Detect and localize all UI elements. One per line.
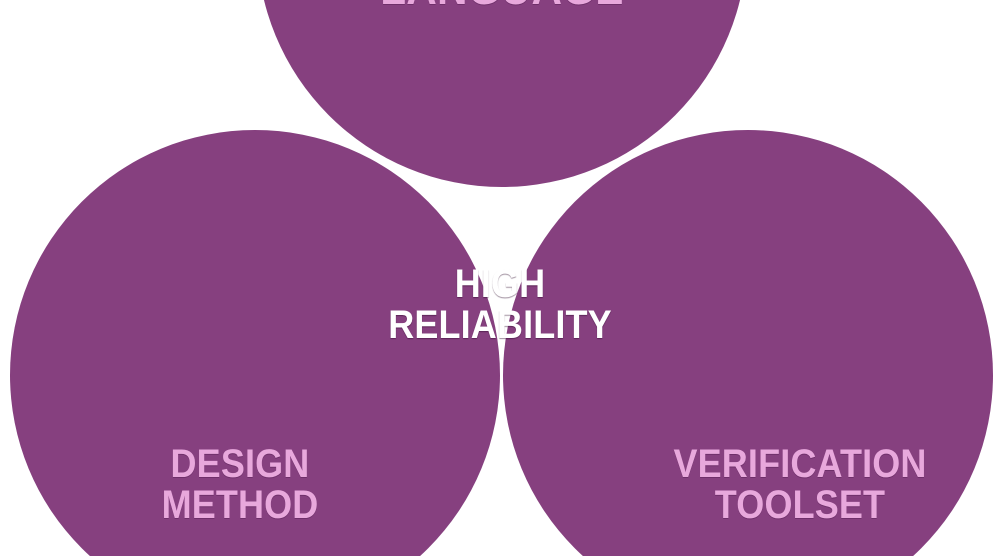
venn-circles-svg xyxy=(0,0,1000,556)
circle-design-method xyxy=(10,130,500,556)
base-circles xyxy=(10,0,993,556)
circle-verification-toolset xyxy=(503,130,993,556)
venn-diagram: LANGUAGE DESIGN METHOD VERIFICATION TOOL… xyxy=(0,0,1000,556)
